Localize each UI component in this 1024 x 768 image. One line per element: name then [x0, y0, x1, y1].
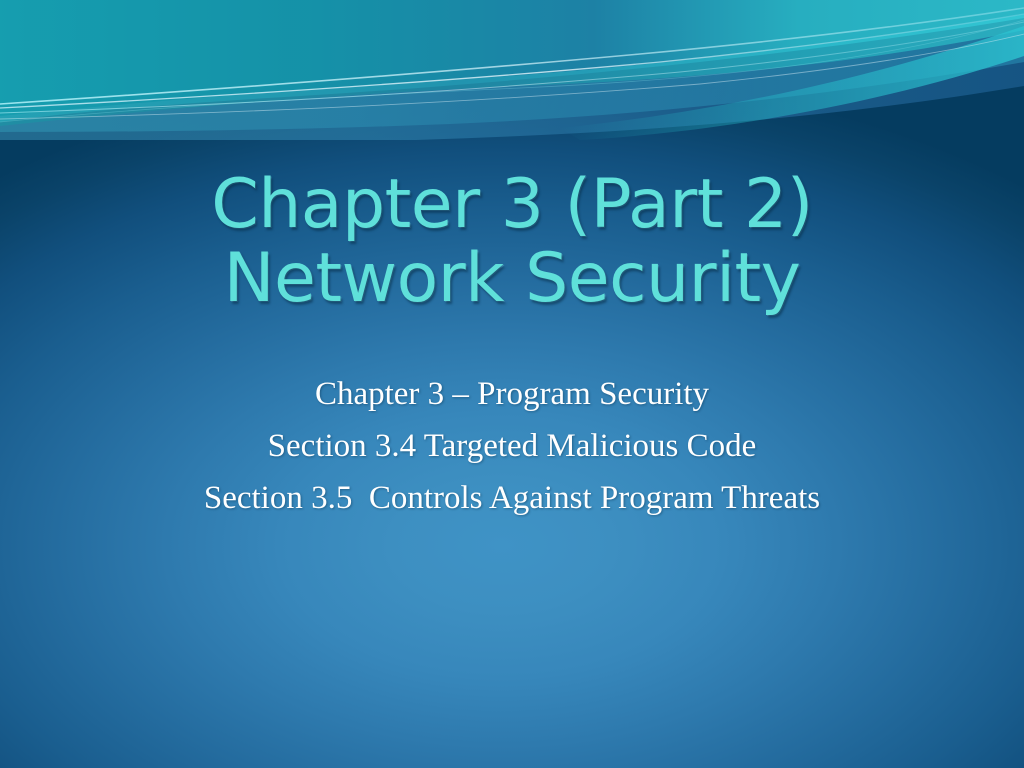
slide-subtitle-line-2: Section 3.4 Targeted Malicious Code	[0, 420, 1024, 472]
wave-teal-right	[560, 26, 1024, 140]
slide-subtitle: Chapter 3 – Program Security Section 3.4…	[0, 368, 1024, 524]
slide-title: Chapter 3 (Part 2) Network Security	[0, 168, 1024, 316]
slide-subtitle-line-1: Chapter 3 – Program Security	[0, 368, 1024, 420]
wave-hairline-lower	[0, 22, 1024, 113]
slide-title-line-1: Chapter 3 (Part 2)	[0, 168, 1024, 242]
wave-teal-upper	[0, 0, 1024, 122]
slide-title-line-2: Network Security	[0, 242, 1024, 316]
wave-hairline-upper	[0, 8, 1024, 104]
wave-hairline-faint	[0, 34, 1024, 119]
wave-blue-lower	[0, 30, 1024, 140]
wave-hairline-mid	[0, 14, 1024, 108]
slide-subtitle-line-3: Section 3.5 Controls Against Program Thr…	[0, 472, 1024, 524]
header-wave-decoration	[0, 0, 1024, 140]
presentation-slide: Chapter 3 (Part 2) Network Security Chap…	[0, 0, 1024, 768]
wave-teal-mid	[0, 14, 1024, 132]
wave-crest-line	[0, 20, 1024, 122]
